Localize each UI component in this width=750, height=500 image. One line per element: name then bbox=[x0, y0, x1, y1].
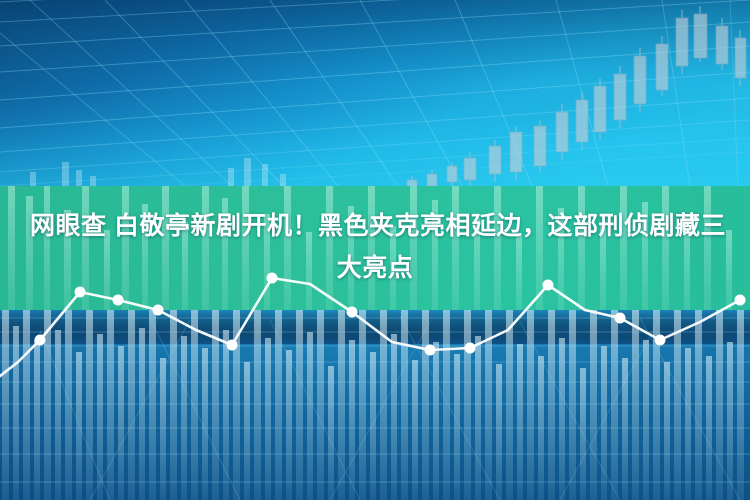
lower-chart-band bbox=[0, 310, 750, 500]
banner-image: 网眼查 白敬亭新剧开机！黑色夹克亮相延边，这部刑侦剧藏三 大亮点 bbox=[0, 0, 750, 500]
background-gradient bbox=[0, 0, 750, 500]
sky-band bbox=[0, 0, 750, 196]
green-band bbox=[0, 186, 750, 310]
